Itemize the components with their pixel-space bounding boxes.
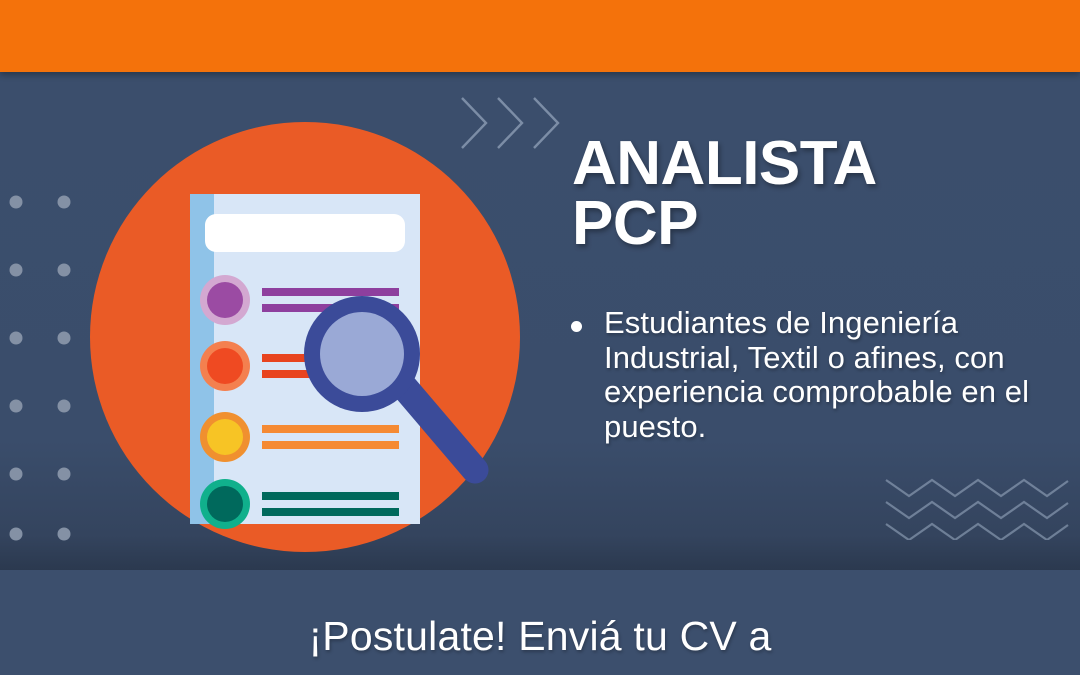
- list-item: Estudiantes de Ingeniería Industrial, Te…: [562, 306, 1042, 445]
- top-banner-inner: te están buscando: [0, 0, 1080, 72]
- zigzag-lines-icon: [884, 474, 1070, 540]
- requirement-text: Estudiantes de Ingeniería Industrial, Te…: [604, 305, 1029, 444]
- cta-panel: ¡Postulate! Enviá tu CV a: [0, 570, 1080, 675]
- cv-search-illustration: [90, 92, 530, 552]
- requirements-list: Estudiantes de Ingeniería Industrial, Te…: [562, 306, 1042, 445]
- dot-grid-icon: [0, 184, 80, 544]
- job-title-line2: PCP: [572, 189, 698, 258]
- cta-text: ¡Postulate! Enviá tu CV a: [0, 612, 1080, 660]
- job-posting-poster: ANALISTA PCP Estudiantes de Ingeniería I…: [0, 0, 1080, 675]
- top-banner: te están buscando: [0, 0, 1080, 72]
- cta-line-1: ¡Postulate! Enviá tu CV a: [308, 613, 771, 659]
- job-title: ANALISTA PCP: [572, 134, 1042, 253]
- bullet-icon: [571, 321, 582, 332]
- main-content-panel: ANALISTA PCP Estudiantes de Ingeniería I…: [0, 72, 1080, 570]
